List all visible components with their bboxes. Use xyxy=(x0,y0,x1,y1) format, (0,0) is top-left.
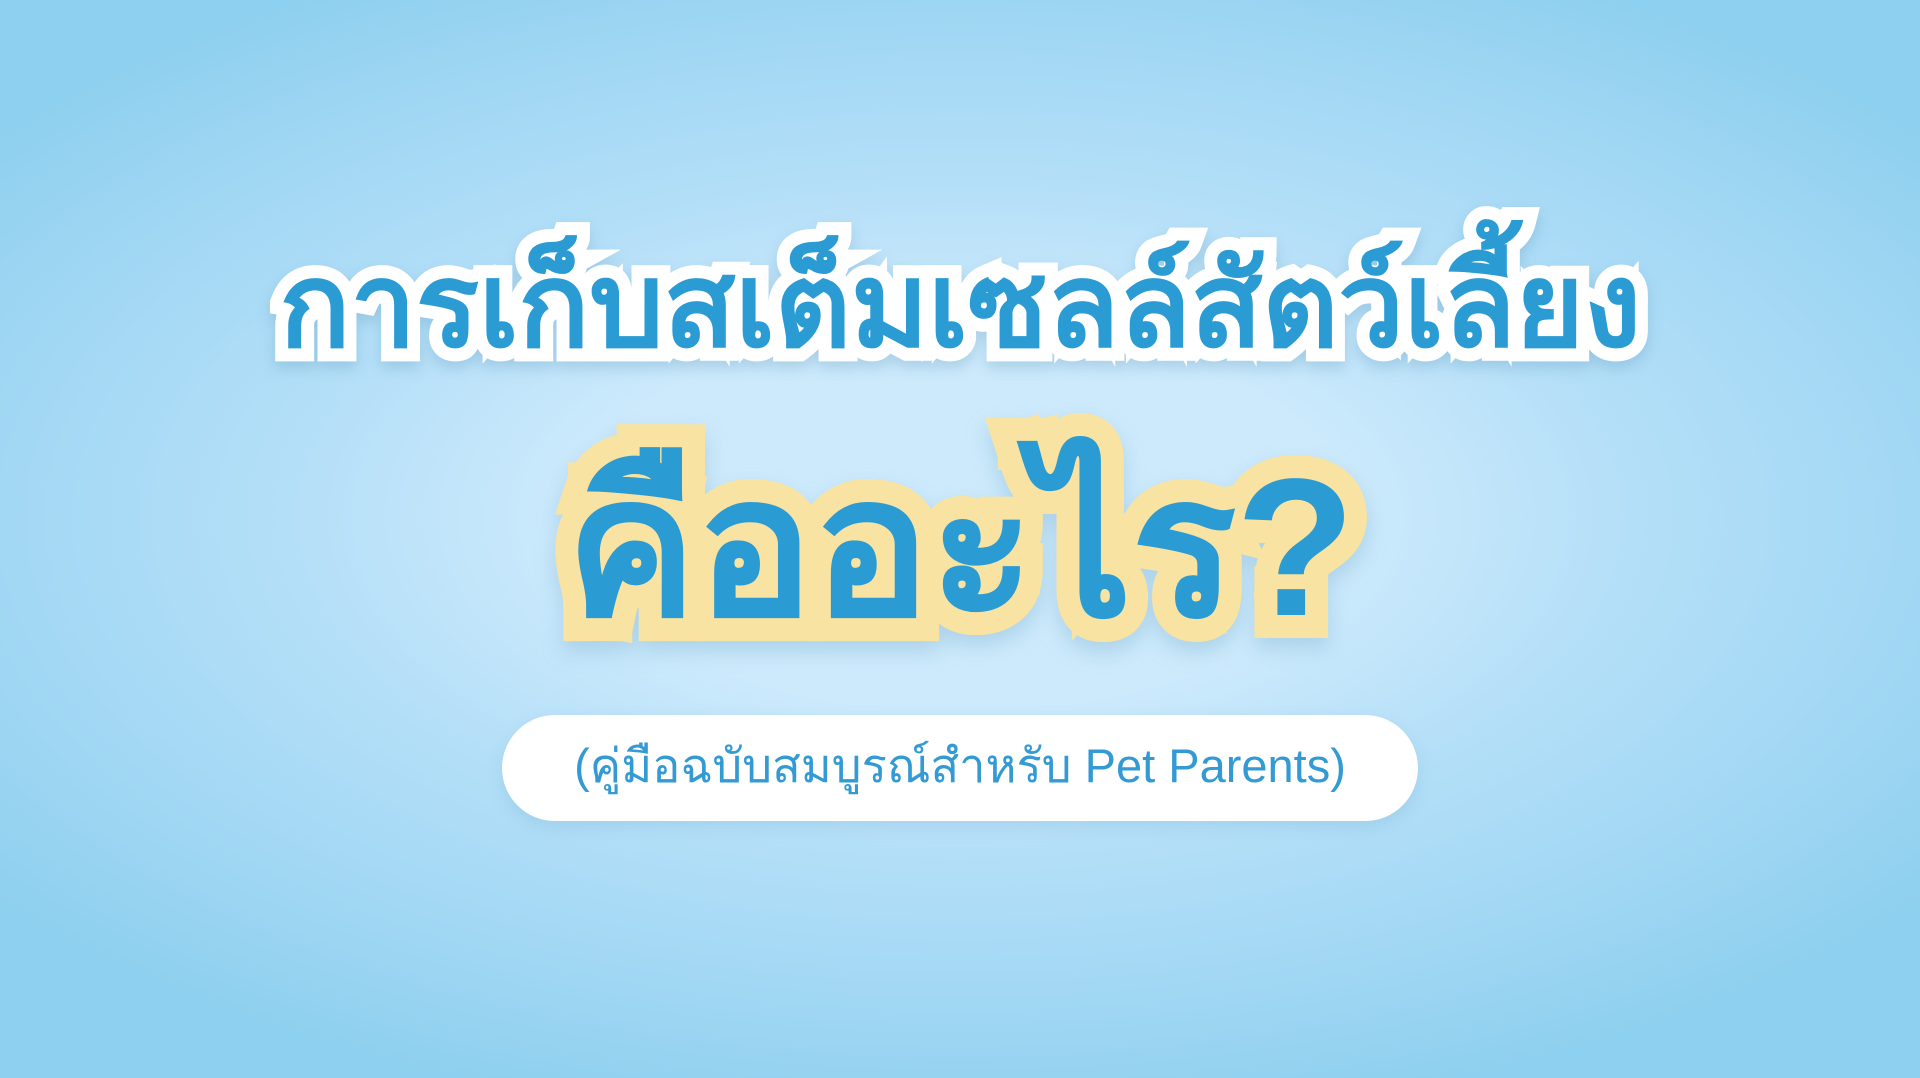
subheadline-container: คืออะไร? xyxy=(566,423,1355,673)
headline-container: การเก็บสเต็มเซลล์สัตว์เลี้ยง xyxy=(279,231,1641,381)
subtitle-pill: (คู่มือฉบับสมบูรณ์สำหรับ Pet Parents) xyxy=(502,715,1418,820)
page-title: การเก็บสเต็มเซลล์สัตว์เลี้ยง xyxy=(279,247,1641,365)
subtitle-label: (คู่มือฉบับสมบูรณ์สำหรับ Pet Parents) xyxy=(574,741,1346,790)
title-slide: การเก็บสเต็มเซลล์สัตว์เลี้ยง คืออะไร? (ค… xyxy=(0,0,1920,1078)
page-subtitle-question: คืออะไร? xyxy=(566,450,1355,646)
